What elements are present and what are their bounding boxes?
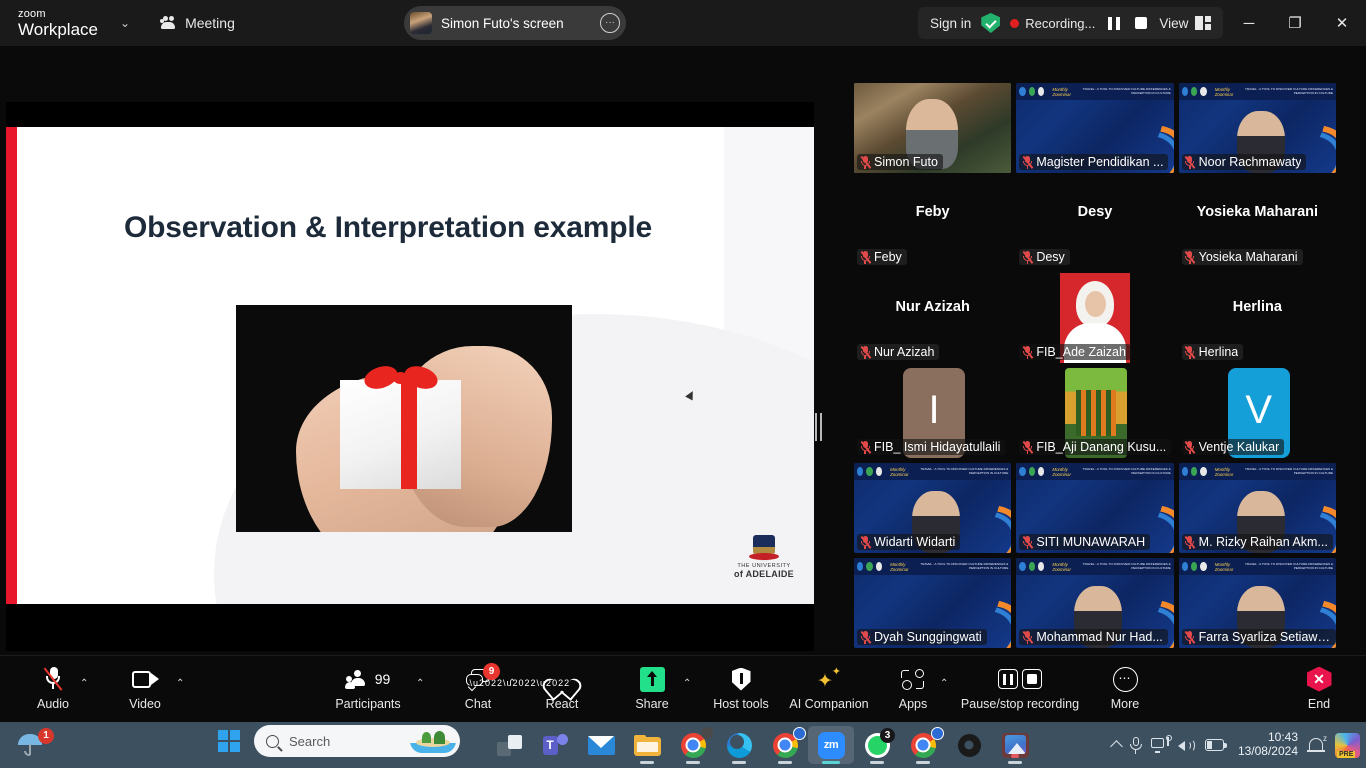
participant-tile[interactable]: FIB_Ade Zaizah [1016,273,1173,363]
zoom-logo: zoom Workplace [18,9,98,38]
chat-unread-badge: 9 [483,663,500,680]
taskbar-edge-icon[interactable] [716,726,762,764]
windows-taskbar: 1 Search T zm 3 [0,722,1366,768]
participant-tile[interactable]: DesyDesy [1016,178,1173,268]
shared-screen-stage: Observation & Interpretation example THE… [0,46,820,655]
pause-recording-icon[interactable] [1105,15,1122,32]
meeting-tab-label: Meeting [185,15,235,31]
minimize-button[interactable]: ─ [1226,0,1272,46]
webinar-banner-title: Monthly Zoominar [1215,467,1240,477]
taskbar-mail-icon[interactable] [578,726,624,764]
more-button[interactable]: ⋯ More [1088,664,1162,711]
participant-name-badge: Yosieka Maharani [1182,249,1303,265]
participant-name-badge: Simon Futo [857,154,943,170]
start-button[interactable] [218,730,240,752]
mic-muted-icon [1185,251,1195,264]
tray-battery-icon[interactable] [1205,739,1227,752]
participant-tile[interactable]: FIB_Aji Danang Kusu... [1016,368,1173,458]
copilot-icon[interactable]: PRE [1335,733,1360,758]
chat-label: Chat [465,697,491,711]
taskbar-file-explorer-icon[interactable] [624,726,670,764]
video-options-chevron-icon[interactable]: ⌃ [176,678,184,689]
webinar-banner-title: Monthly Zoominar [1052,87,1077,97]
share-screen-icon [640,664,665,694]
whatsapp-badge: 3 [880,728,895,743]
taskbar-center-group: Search [218,725,460,757]
participant-name-badge: Desy [1019,249,1069,265]
participant-name: Simon Futo [874,155,938,169]
mic-muted-icon [860,346,870,359]
screen-share-indicator[interactable]: Simon Futo's screen ··· [404,6,626,40]
pause-icon[interactable] [998,669,1018,689]
camera-icon [132,664,159,694]
participant-name: FIB_Aji Danang Kusu... [1036,440,1166,454]
webinar-banner: Monthly ZoominarTRAVEL : A TOOL TO DISCO… [854,558,1011,575]
participant-tile[interactable]: Monthly ZoominarTRAVEL : A TOOL TO DISCO… [1016,83,1173,173]
participant-tile[interactable]: HerlinaHerlina [1179,273,1336,363]
participant-name: Farra Syarliza Setiawan [1199,630,1331,644]
zoom-meeting-window: zoom Workplace ⌄ Meeting Simon Futo's sc… [0,0,1366,768]
webinar-banner-subtitle: TRAVEL : A TOOL TO DISCOVER CULTURE DIFF… [1243,88,1333,96]
participant-name: Feby [874,250,902,264]
tray-network-icon[interactable] [1151,738,1169,753]
participant-gallery: Simon FutoMonthly ZoominarTRAVEL : A TOO… [824,46,1366,655]
taskbar-whatsapp-icon[interactable]: 3 [854,726,900,764]
stop-recording-icon[interactable] [1132,15,1149,32]
more-label: More [1111,697,1139,711]
participant-name-badge: Nur Azizah [857,344,939,360]
chat-options-chevron-icon[interactable]: ⌃ [508,678,516,689]
participant-tile[interactable]: Simon Futo [854,83,1011,173]
webinar-banner-subtitle: TRAVEL : A TOOL TO DISCOVER CULTURE DIFF… [1080,563,1170,571]
search-input[interactable]: Search [254,725,460,757]
participant-name-badge: Magister Pendidikan ... [1019,154,1168,170]
react-button[interactable]: React [525,664,599,711]
participant-tile[interactable]: IFIB_ Ismi Hidayatullaili [854,368,1011,458]
end-call-icon: ✕ [1307,664,1332,694]
stop-icon[interactable] [1022,669,1042,689]
taskbar-chrome-icon[interactable] [762,726,808,764]
webinar-banner-subtitle: TRAVEL : A TOOL TO DISCOVER CULTURE DIFF… [1243,563,1333,571]
participant-name: Ventje Kalukar [1199,440,1280,454]
share-more-icon[interactable]: ··· [600,13,620,33]
view-button[interactable]: View [1159,16,1211,31]
participant-name-badge: FIB_Aji Danang Kusu... [1019,439,1171,455]
clock-date: 13/08/2024 [1238,745,1298,759]
heart-icon [550,664,574,694]
participant-name: Magister Pendidikan ... [1036,155,1163,169]
webinar-banner-title: Monthly Zoominar [890,562,915,572]
title-bar: zoom Workplace ⌄ Meeting Simon Futo's sc… [0,0,1366,46]
task-view-button[interactable] [486,726,532,764]
mic-muted-icon [46,664,61,694]
participant-tile[interactable]: Yosieka MaharaniYosieka Maharani [1179,178,1336,268]
participant-name: Widarti Widarti [874,535,955,549]
webinar-banner-title: Monthly Zoominar [1052,562,1077,572]
participant-tile[interactable]: Monthly ZoominarTRAVEL : A TOOL TO DISCO… [1179,83,1336,173]
end-button[interactable]: ✕ End [1282,664,1356,711]
tray-volume-icon[interactable] [1178,738,1196,753]
slide-photo-gift-in-hands [236,305,572,532]
participant-display-name: Feby [854,204,1011,220]
webinar-banner-title: Monthly Zoominar [1052,467,1077,477]
recording-label: Recording... [1025,16,1095,31]
weather-widget[interactable]: 1 [12,726,56,764]
participant-tile[interactable]: Monthly ZoominarTRAVEL : A TOOL TO DISCO… [854,558,1011,648]
gallery-row: Simon FutoMonthly ZoominarTRAVEL : A TOO… [854,83,1336,173]
search-placeholder: Search [289,734,330,749]
chat-icon: \u2022\u2022\u2022 9 [466,664,490,694]
notification-bell-icon[interactable]: z [1307,736,1326,755]
view-label: View [1159,16,1188,31]
mic-muted-icon [1185,346,1195,359]
webinar-banner: Monthly ZoominarTRAVEL : A TOOL TO DISCO… [854,463,1011,480]
sparkle-icon: ✦✦ [816,664,842,694]
taskbar-chrome-profile-icon[interactable] [670,726,716,764]
mic-muted-icon [860,631,870,644]
participant-name-badge: FIB_ Ismi Hidayatullaili [857,439,1005,455]
recording-controls-icon [998,664,1042,694]
apps-button[interactable]: Apps [876,664,950,711]
webinar-banner-subtitle: TRAVEL : A TOOL TO DISCOVER CULTURE DIFF… [1243,468,1333,476]
panel-resize-handle[interactable] [812,410,824,444]
react-label: React [546,697,579,711]
participant-name-badge: Feby [857,249,907,265]
close-button[interactable]: ✕ [1318,0,1366,46]
shield-check-icon[interactable] [981,13,1000,33]
taskbar-app-icons: T zm 3 [486,726,1038,764]
participant-display-name: Desy [1016,204,1173,220]
sign-in-button[interactable]: Sign in [930,16,971,31]
gallery-row: IFIB_ Ismi HidayatullailiFIB_Aji Danang … [854,368,1336,458]
participant-name: Yosieka Maharani [1199,250,1298,264]
taskbar-photos-icon[interactable] [992,726,1038,764]
video-button[interactable]: Video [108,664,182,711]
webinar-banner: Monthly ZoominarTRAVEL : A TOOL TO DISCO… [1016,463,1173,480]
participant-name: SITI MUNAWARAH [1036,535,1145,549]
tray-microphone-icon[interactable] [1130,737,1142,754]
participant-tile[interactable]: Monthly ZoominarTRAVEL : A TOOL TO DISCO… [1016,463,1173,553]
presenter-thumbnail [410,12,432,34]
mic-muted-icon [1185,536,1195,549]
meeting-tab[interactable]: Meeting [160,15,235,31]
host-tools-label: Host tools [713,697,769,711]
search-illustration [410,729,456,753]
apps-label: Apps [899,697,928,711]
video-label: Video [129,697,161,711]
share-title-label: Simon Futo's screen [441,16,564,31]
apps-icon [901,664,926,694]
participant-name: Noor Rachmawaty [1199,155,1302,169]
mic-muted-icon [1022,631,1032,644]
recording-status: Recording... [1010,16,1095,31]
webinar-banner: Monthly ZoominarTRAVEL : A TOOL TO DISCO… [1179,558,1336,575]
participant-tile[interactable]: Nur AzizahNur Azizah [854,273,1011,363]
participant-name: Mohammad Nur Had... [1036,630,1162,644]
gallery-row: FebyFebyDesyDesyYosieka MaharaniYosieka … [854,178,1336,268]
participant-name-badge: Dyah Sunggingwati [857,629,987,645]
webinar-banner-title: Monthly Zoominar [890,467,915,477]
brand-workplace: Workplace [18,21,98,38]
system-tray: 10:43 13/08/2024 z PRE [1112,726,1360,764]
show-hidden-icons-chevron-icon[interactable] [1110,740,1123,753]
webinar-banner-subtitle: TRAVEL : A TOOL TO DISCOVER CULTURE DIFF… [1080,468,1170,476]
mic-muted-icon [860,156,870,169]
clock-time: 10:43 [1238,731,1298,745]
participant-display-name: Herlina [1179,299,1336,315]
meeting-toolbar: Audio ⌃ Video ⌃ 99 Participants ⌃ \u2022… [0,655,1366,722]
mic-muted-icon [1185,631,1195,644]
mic-muted-icon [860,441,870,454]
participant-display-name: Yosieka Maharani [1179,204,1336,220]
participant-name: Desy [1036,250,1064,264]
participants-label: Participants [335,697,400,711]
ai-companion-button[interactable]: ✦✦ AI Companion [785,664,873,711]
participant-name-badge: Ventje Kalukar [1182,439,1285,455]
participant-name-badge: M. Rizky Raihan Akm... [1182,534,1333,550]
participant-name: Nur Azizah [874,345,934,359]
maximize-button[interactable]: ❐ [1272,0,1318,46]
participant-name-badge: SITI MUNAWARAH [1019,534,1150,550]
participant-name-badge: Mohammad Nur Had... [1019,629,1167,645]
taskbar-teams-icon[interactable]: T [532,726,578,764]
window-controls: ─ ❐ ✕ [1226,0,1366,46]
webinar-banner: Monthly ZoominarTRAVEL : A TOOL TO DISCO… [1016,83,1173,100]
host-tools-button[interactable]: Host tools [704,664,778,711]
mic-muted-icon [1022,346,1032,359]
mic-muted-icon [1022,441,1032,454]
pause-stop-recording-button[interactable]: Pause/stop recording [956,664,1084,711]
record-dot-icon [1010,19,1019,28]
participant-tile[interactable]: Monthly ZoominarTRAVEL : A TOOL TO DISCO… [1016,558,1173,648]
gallery-grid: Simon FutoMonthly ZoominarTRAVEL : A TOO… [854,83,1336,653]
share-button[interactable]: Share [615,664,689,711]
audio-button[interactable]: Audio [16,664,90,711]
end-label: End [1308,697,1330,711]
share-options-chevron-icon[interactable]: ⌃ [683,678,691,689]
mic-muted-icon [860,251,870,264]
brand-chevron-down-icon[interactable]: ⌄ [120,16,130,30]
mic-muted-icon [860,536,870,549]
webinar-banner: Monthly ZoominarTRAVEL : A TOOL TO DISCO… [1179,83,1336,100]
participant-name-badge: FIB_Ade Zaizah [1019,344,1131,360]
participants-button[interactable]: 99 Participants [331,664,405,711]
brand-zoom: zoom [18,9,98,20]
participants-count: 99 [375,671,391,687]
clock[interactable]: 10:43 13/08/2024 [1238,731,1298,759]
status-group: Sign in Recording... View [918,7,1223,39]
audio-options-chevron-icon[interactable]: ⌃ [80,678,88,689]
webinar-banner-title: Monthly Zoominar [1215,562,1240,572]
participant-tile[interactable]: FebyFeby [854,178,1011,268]
participants-options-chevron-icon[interactable]: ⌃ [416,678,424,689]
mic-muted-icon [1185,156,1195,169]
participant-name: FIB_ Ismi Hidayatullaili [874,440,1000,454]
chat-button[interactable]: \u2022\u2022\u2022 9 Chat [441,664,515,711]
taskbar-zoom-icon[interactable]: zm [808,726,854,764]
mic-muted-icon [1022,156,1032,169]
more-dots-icon: ⋯ [1113,664,1138,694]
taskbar-chrome-account-icon[interactable] [900,726,946,764]
participant-display-name: Nur Azizah [854,299,1011,315]
participant-name-badge: Herlina [1182,344,1244,360]
participant-name: Dyah Sunggingwati [874,630,982,644]
slide-red-bar [6,127,17,604]
adelaide-crest-icon [753,535,775,561]
gallery-row: Monthly ZoominarTRAVEL : A TOOL TO DISCO… [854,463,1336,553]
share-label: Share [635,697,668,711]
mic-muted-icon [1185,441,1195,454]
webinar-banner-subtitle: TRAVEL : A TOOL TO DISCOVER CULTURE DIFF… [918,468,1008,476]
mic-muted-icon [1022,251,1032,264]
ai-companion-label: AI Companion [789,697,868,711]
mic-muted-icon [1022,536,1032,549]
webinar-banner: Monthly ZoominarTRAVEL : A TOOL TO DISCO… [1016,558,1173,575]
apps-options-chevron-icon[interactable]: ⌃ [940,678,948,689]
presentation-slide[interactable]: Observation & Interpretation example THE… [6,127,814,604]
participants-icon: 99 [346,664,391,694]
webinar-banner: Monthly ZoominarTRAVEL : A TOOL TO DISCO… [1179,463,1336,480]
participant-tile[interactable]: VVentje Kalukar [1179,368,1336,458]
gallery-row: Nur AzizahNur AzizahFIB_Ade ZaizahHerlin… [854,273,1336,363]
pause-stop-recording-label: Pause/stop recording [961,697,1079,711]
webinar-banner-title: Monthly Zoominar [1215,87,1240,97]
university-of-adelaide-logo: THE UNIVERSITY of ADELAIDE [734,535,794,579]
notification-badge: 1 [38,728,54,744]
participant-name-badge: Noor Rachmawaty [1182,154,1307,170]
search-icon [266,735,279,748]
webinar-banner-subtitle: TRAVEL : A TOOL TO DISCOVER CULTURE DIFF… [918,563,1008,571]
participant-name-badge: Widarti Widarti [857,534,960,550]
shield-icon [732,664,751,694]
copilot-badge: PRE [1337,751,1355,758]
participant-name-badge: Farra Syarliza Setiawan [1182,629,1336,645]
taskbar-settings-icon[interactable] [946,726,992,764]
participant-tile[interactable]: Monthly ZoominarTRAVEL : A TOOL TO DISCO… [1179,558,1336,648]
participant-tile[interactable]: Monthly ZoominarTRAVEL : A TOOL TO DISCO… [854,463,1011,553]
gallery-row: Monthly ZoominarTRAVEL : A TOOL TO DISCO… [854,558,1336,648]
webinar-banner-subtitle: TRAVEL : A TOOL TO DISCOVER CULTURE DIFF… [1080,88,1170,96]
university-line-2: of ADELAIDE [734,569,794,579]
slide-title: Observation & Interpretation example [124,211,734,245]
people-icon [160,16,177,31]
participant-name: M. Rizky Raihan Akm... [1199,535,1328,549]
participant-tile[interactable]: Monthly ZoominarTRAVEL : A TOOL TO DISCO… [1179,463,1336,553]
participant-name: Herlina [1199,345,1239,359]
audio-label: Audio [37,697,69,711]
layout-icon [1195,16,1211,30]
participant-name: FIB_Ade Zaizah [1036,345,1126,359]
